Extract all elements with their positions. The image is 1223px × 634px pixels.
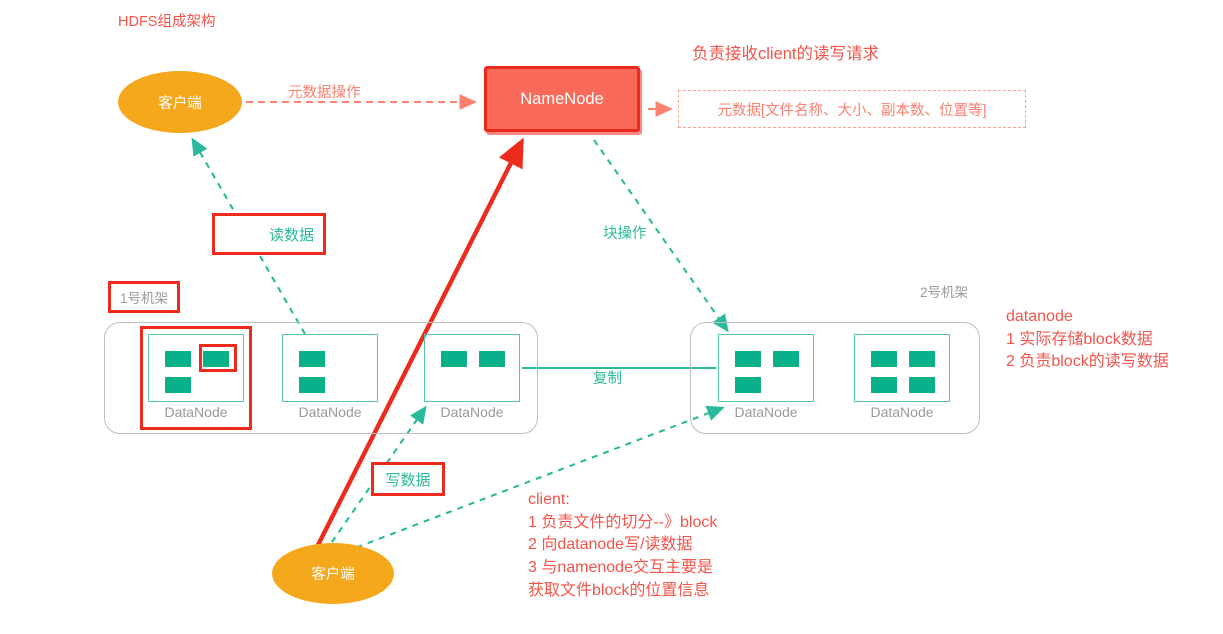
- write-data-callout: 写数据: [371, 462, 445, 496]
- client-node-bottom-label: 客户端: [311, 563, 355, 584]
- datanode-1-highlight-ring: [140, 326, 252, 430]
- read-data-label: 读数据: [269, 224, 314, 245]
- block: [909, 377, 935, 393]
- client-node-bottom[interactable]: 客户端: [272, 543, 394, 604]
- datanode-2-caption: DataNode: [282, 404, 378, 420]
- datanode-5-caption: DataNode: [854, 404, 950, 420]
- block: [735, 377, 761, 393]
- rack-1-label: 1号机架: [108, 281, 180, 313]
- metadata-box: 元数据[文件名称、大小、副本数、位置等]: [678, 90, 1026, 128]
- datanode-5-box: [854, 334, 950, 402]
- namenode-note: 负责接收client的读写请求: [692, 46, 879, 63]
- block: [871, 351, 897, 367]
- namenode-box[interactable]: NameNode: [484, 66, 640, 132]
- edge-label-block-operation: 块操作: [603, 222, 647, 243]
- read-data-callout: 读数据: [212, 213, 326, 255]
- block: [735, 351, 761, 367]
- datanode-2-box: [282, 334, 378, 402]
- rack-2-label: 2号机架: [920, 281, 968, 301]
- datanode-annotation: datanode 1 实际存储block数据 2 负责block的读写数据: [1006, 306, 1169, 374]
- edge-label-metadata-operation: 元数据操作: [288, 81, 361, 102]
- hdfs-architecture-diagram: NameNode : metadata operation --> metada…: [0, 0, 1223, 634]
- write-data-label: 写数据: [385, 469, 430, 490]
- block: [441, 351, 467, 367]
- page-title: HDFS组成架构: [118, 15, 215, 30]
- block: [299, 377, 325, 393]
- edge-label-replicate: 复制: [593, 367, 622, 388]
- datanode-3-caption: DataNode: [424, 404, 520, 420]
- block: [479, 351, 505, 367]
- datanode-4-caption: DataNode: [718, 404, 814, 420]
- block: [871, 377, 897, 393]
- datanode-4-box: [718, 334, 814, 402]
- client-node-top[interactable]: 客户端: [118, 71, 242, 133]
- block: [299, 351, 325, 367]
- block: [773, 351, 799, 367]
- block: [909, 351, 935, 367]
- datanode-3-box: [424, 334, 520, 402]
- metadata-box-label: 元数据[文件名称、大小、副本数、位置等]: [717, 99, 986, 120]
- client-annotation: client: 1 负责文件的切分--》block 2 向datanode写/读…: [528, 489, 717, 603]
- namenode-label: NameNode: [520, 90, 603, 109]
- client-node-top-label: 客户端: [158, 92, 202, 113]
- block-highlight-ring: [199, 344, 237, 372]
